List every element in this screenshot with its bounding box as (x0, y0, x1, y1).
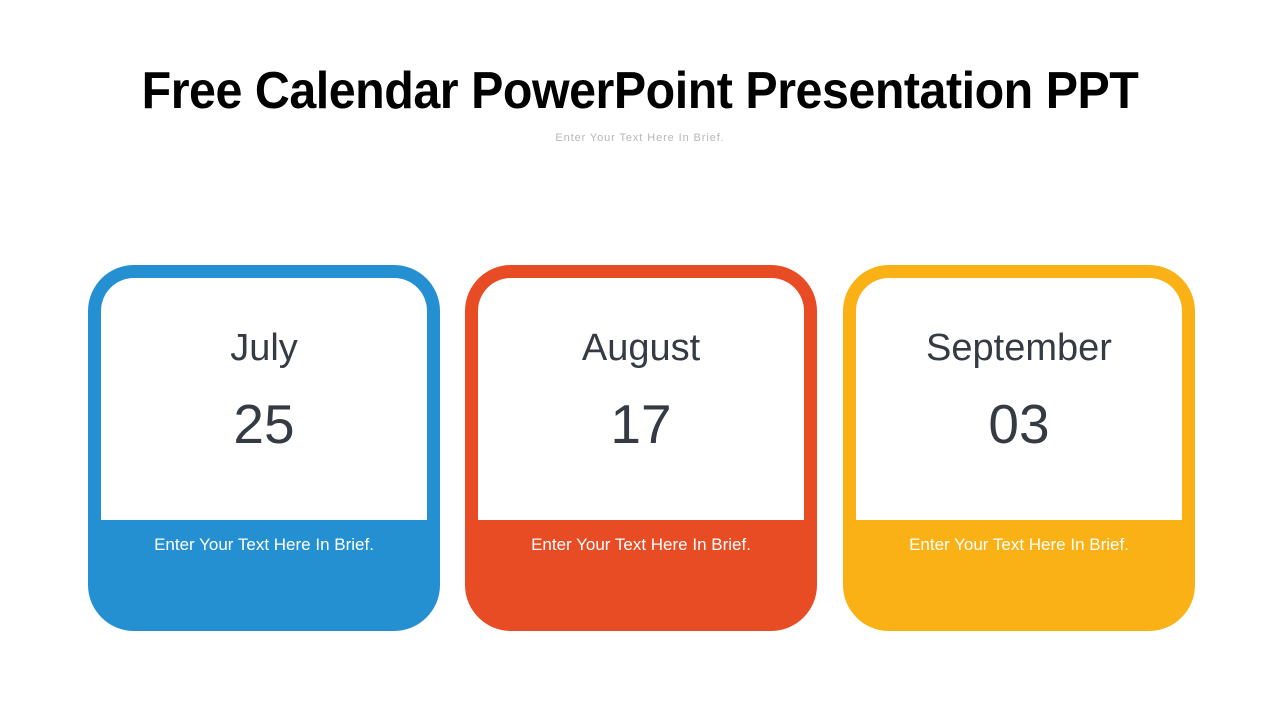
calendar-card-month: August (582, 327, 700, 369)
calendar-card-month: September (926, 327, 1112, 369)
presentation-slide: Free Calendar PowerPoint Presentation PP… (0, 0, 1280, 720)
calendar-card-july[interactable]: July 25 Enter Your Text Here In Brief. (88, 265, 440, 631)
page-subtitle: Enter Your Text Here In Brief. (0, 130, 1280, 146)
calendar-card-day: 25 (233, 395, 294, 453)
calendar-card-day: 17 (610, 395, 671, 453)
calendar-card-september[interactable]: September 03 Enter Your Text Here In Bri… (843, 265, 1195, 631)
calendar-card-footer-text: Enter Your Text Here In Brief. (491, 533, 791, 556)
calendar-card-day: 03 (988, 395, 1049, 453)
calendar-cards-row: July 25 Enter Your Text Here In Brief. A… (88, 265, 1193, 631)
calendar-card-panel: July 25 (101, 278, 427, 520)
calendar-card-month: July (230, 327, 298, 369)
calendar-card-footer-text: Enter Your Text Here In Brief. (869, 533, 1169, 556)
calendar-card-panel: August 17 (478, 278, 804, 520)
calendar-card-august[interactable]: August 17 Enter Your Text Here In Brief. (465, 265, 817, 631)
calendar-card-panel: September 03 (856, 278, 1182, 520)
calendar-card-footer-text: Enter Your Text Here In Brief. (114, 533, 414, 556)
page-title: Free Calendar PowerPoint Presentation PP… (45, 59, 1235, 123)
